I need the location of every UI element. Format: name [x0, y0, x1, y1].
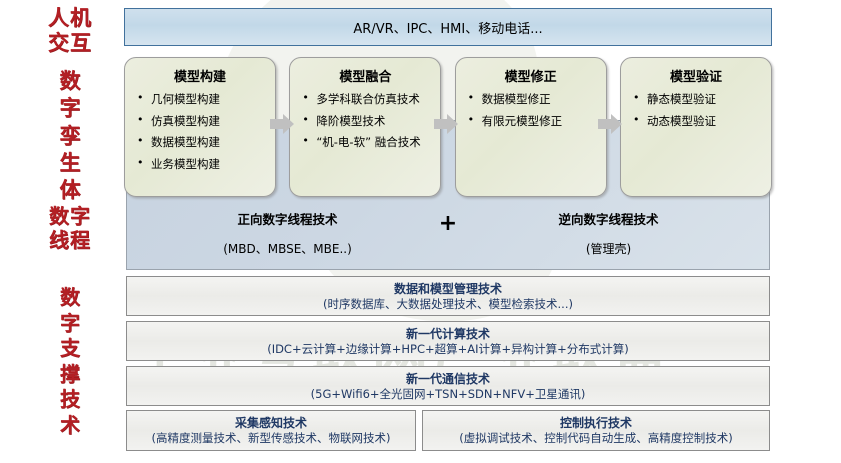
sidebar-label-char: 字: [40, 311, 100, 337]
sidebar-item-digital-support-technology: 数 字 支 撑 技 术: [40, 285, 100, 439]
tech-bar-control-execution[interactable]: 控制执行技术 (虚拟调试技术、控制代码自动生成、高精度控制技术): [422, 410, 770, 451]
sidebar-item-digital-thread: 数字 线程: [30, 205, 110, 252]
model-box-title: 模型融合: [294, 66, 436, 85]
tech-bar-title: 控制执行技术: [423, 416, 769, 430]
model-box-list: 多学科联合仿真技术 降阶模型技术 “机-电-软” 融合技术: [294, 93, 436, 149]
tech-bar-subtitle: (时序数据库、大数据处理技术、模型检索技术...): [127, 297, 769, 311]
model-box-list: 静态模型验证 动态模型验证: [625, 93, 767, 127]
tech-bar-subtitle: (5G+Wifi6+全光固网+TSN+SDN+NFV+卫星通讯): [127, 387, 769, 401]
model-box-title: 模型验证: [625, 66, 767, 85]
list-item: 降阶模型技术: [300, 115, 436, 128]
thread-subtitle: (管理壳): [448, 240, 769, 257]
model-box-fusion[interactable]: 模型融合 多学科联合仿真技术 降阶模型技术 “机-电-软” 融合技术: [289, 57, 441, 197]
model-box-title: 模型构建: [129, 66, 271, 85]
list-item: 数据模型构建: [135, 136, 271, 149]
model-box-list: 数据模型修正 有限元模型修正: [460, 93, 602, 127]
list-item: 静态模型验证: [631, 93, 767, 106]
sidebar-item-human-machine-interaction: 人机 交互: [30, 6, 110, 56]
tech-bar-next-gen-computing[interactable]: 新一代计算技术 (IDC+云计算+边缘计算+HPC+超算+AI计算+异构计算+分…: [126, 321, 770, 361]
list-item: 业务模型构建: [135, 158, 271, 171]
list-item: “机-电-软” 融合技术: [300, 136, 436, 149]
sidebar-label-char: 体: [40, 177, 100, 204]
sidebar-label-char: 生: [40, 150, 100, 177]
model-box-construction[interactable]: 模型构建 几何模型构建 仿真模型构建 数据模型构建 业务模型构建: [124, 57, 276, 197]
diagram-content: AR/VR、IPC、HMI、移动电话... 正向数字线程技术 (MBD、MBSE…: [124, 0, 774, 463]
list-item: 动态模型验证: [631, 115, 767, 128]
sidebar-label-line: 人机: [30, 6, 110, 31]
sidebar-label-char: 技: [40, 387, 100, 413]
sidebar-label-char: 数: [40, 285, 100, 311]
top-banner-label: AR/VR、IPC、HMI、移动电话...: [353, 18, 542, 37]
model-box-correction[interactable]: 模型修正 数据模型修正 有限元模型修正: [455, 57, 607, 197]
sidebar-label-char: 支: [40, 336, 100, 362]
list-item: 有限元模型修正: [466, 115, 602, 128]
tech-bar-title: 新一代计算技术: [127, 327, 769, 341]
model-box-validation[interactable]: 模型验证 静态模型验证 动态模型验证: [620, 57, 772, 197]
sidebar-item-digital-twin: 数 字 孪 生 体: [40, 68, 100, 204]
tech-bar-subtitle: (虚拟调试技术、控制代码自动生成、高精度控制技术): [423, 431, 769, 445]
sidebar-label-char: 孪: [40, 123, 100, 150]
list-item: 仿真模型构建: [135, 115, 271, 128]
tech-bar-next-gen-communication[interactable]: 新一代通信技术 (5G+Wifi6+全光固网+TSN+SDN+NFV+卫星通讯): [126, 366, 770, 406]
arrow-right-icon: [598, 114, 622, 134]
tech-bar-subtitle: (IDC+云计算+边缘计算+HPC+超算+AI计算+异构计算+分布式计算): [127, 342, 769, 356]
tech-bar-title: 采集感知技术: [127, 416, 415, 430]
sidebar-label-char: 术: [40, 413, 100, 439]
thread-subtitle: (MBD、MBSE、MBE..): [127, 240, 448, 257]
sidebar-label-line: 交互: [30, 31, 110, 56]
sidebar-label-char: 撑: [40, 362, 100, 388]
top-banner-human-machine-interaction: AR/VR、IPC、HMI、移动电话...: [124, 8, 772, 46]
list-item: 几何模型构建: [135, 93, 271, 106]
sidebar-vertical-labels: 人机 交互 数 字 孪 生 体 数字 线程 数 字 支 撑 技 术: [0, 0, 120, 463]
sidebar-label-line: 数字: [30, 205, 110, 229]
tech-bar-title: 数据和模型管理技术: [127, 282, 769, 296]
model-box-title: 模型修正: [460, 66, 602, 85]
model-box-list: 几何模型构建 仿真模型构建 数据模型构建 业务模型构建: [129, 93, 271, 171]
arrow-right-icon: [434, 114, 458, 134]
sidebar-label-char: 数: [40, 68, 100, 95]
list-item: 多学科联合仿真技术: [300, 93, 436, 106]
list-item: 数据模型修正: [466, 93, 602, 106]
sidebar-label-char: 字: [40, 95, 100, 122]
sidebar-label-line: 线程: [30, 229, 110, 253]
tech-bar-sensing-acquisition[interactable]: 采集感知技术 (高精度测量技术、新型传感技术、物联网技术): [126, 410, 416, 451]
plus-sign-icon: +: [127, 213, 769, 235]
tech-bar-title: 新一代通信技术: [127, 372, 769, 386]
arrow-right-icon: [270, 114, 294, 134]
tech-bar-subtitle: (高精度测量技术、新型传感技术、物联网技术): [127, 431, 415, 445]
tech-bar-data-and-model-management[interactable]: 数据和模型管理技术 (时序数据库、大数据处理技术、模型检索技术...): [126, 276, 770, 316]
